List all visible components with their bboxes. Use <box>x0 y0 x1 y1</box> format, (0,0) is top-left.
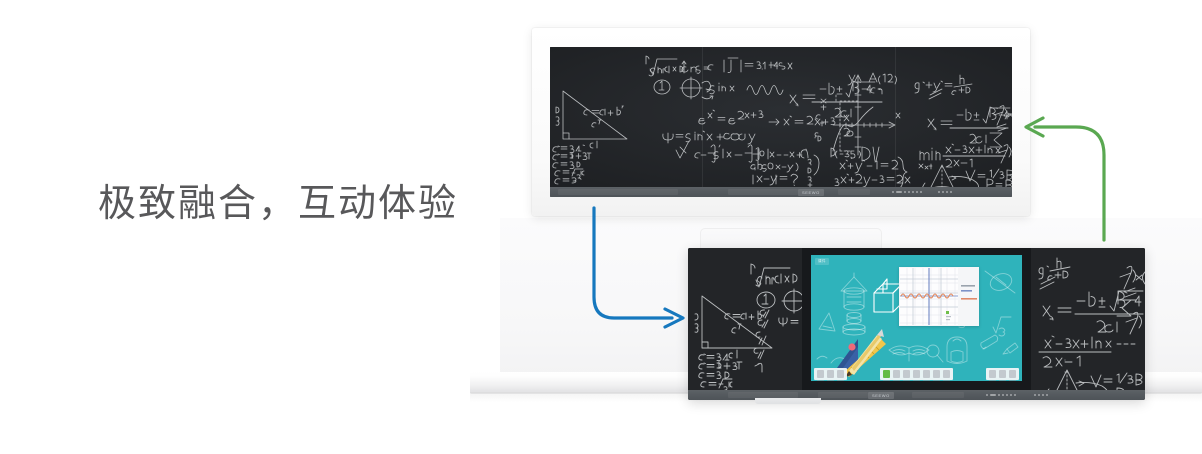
shapes-tool-icon[interactable] <box>913 370 920 378</box>
bezel-dot <box>1014 394 1016 396</box>
bezel-dot <box>892 191 894 193</box>
display-stand-base <box>755 398 821 404</box>
bezel-dot <box>908 191 910 193</box>
bezel-dot <box>950 191 952 193</box>
interactive-touchscreen[interactable]: 课件 <box>811 255 1022 381</box>
more-tool-icon[interactable] <box>943 370 950 378</box>
bezel-segment <box>912 392 964 398</box>
bezel-dot <box>1042 394 1044 396</box>
bezel-dot <box>986 394 988 396</box>
bezel-dot <box>1046 394 1048 396</box>
top-display-bezel-strip: SEEWO <box>550 187 1012 197</box>
bottom-right-chalkboard[interactable] <box>1031 248 1145 390</box>
board-divider-1 <box>702 47 703 187</box>
redo-icon[interactable] <box>1009 370 1016 378</box>
layers-icon[interactable] <box>827 370 834 378</box>
screen-toolbar[interactable] <box>811 367 1022 381</box>
bezel-dot <box>1010 394 1012 396</box>
bezel-dot <box>990 394 996 396</box>
graphing-calculator-window[interactable] <box>899 267 979 326</box>
bezel-dot <box>904 191 906 193</box>
text-tool-icon[interactable] <box>923 370 930 378</box>
page-indicator[interactable] <box>999 370 1006 378</box>
bezel-port-dots <box>1034 394 1048 396</box>
bezel-dot <box>946 191 948 193</box>
bezel-dot <box>998 394 1000 396</box>
bottom-left-handwriting <box>688 248 802 390</box>
top-chalkboard-handwriting <box>550 47 1012 187</box>
bezel-dot <box>942 191 944 193</box>
bezel-indicator-dots <box>986 394 1016 396</box>
bezel-dot <box>1006 394 1008 396</box>
graph-plot <box>899 267 979 326</box>
palette-icon[interactable] <box>837 370 844 378</box>
toolbar-right-group[interactable] <box>986 368 1019 380</box>
toolbar-center-group[interactable] <box>880 368 953 380</box>
bezel-dot <box>1038 394 1040 396</box>
bezel-dot <box>912 191 914 193</box>
bezel-segment <box>728 189 798 195</box>
select-tool-icon[interactable] <box>883 370 890 378</box>
grid-icon[interactable] <box>817 370 824 378</box>
top-whiteboard-display[interactable]: SEEWO <box>532 28 1030 216</box>
bezel-indicator-dots <box>892 191 922 193</box>
toolbar-left-group[interactable] <box>814 368 847 380</box>
pen-tool-icon[interactable] <box>893 370 900 378</box>
marketing-hero-stage: 极致融合，互动体验 <box>0 0 1202 454</box>
eraser-tool-icon[interactable] <box>903 370 910 378</box>
top-display-screen[interactable]: SEEWO <box>550 47 1012 197</box>
bezel-dot <box>1002 394 1004 396</box>
page-headline: 极致融合，互动体验 <box>98 178 458 228</box>
top-display-logo: SEEWO <box>798 189 824 196</box>
bezel-dot <box>938 191 940 193</box>
bottom-left-chalkboard[interactable] <box>688 248 802 390</box>
top-chalkboard-surface[interactable] <box>550 47 1012 187</box>
bottom-center-panel[interactable]: 课件 <box>802 248 1031 390</box>
bottom-display-logo: SEEWO <box>868 392 894 399</box>
board-divider-2 <box>895 47 896 187</box>
undo-icon[interactable] <box>989 370 996 378</box>
bezel-segment <box>558 189 678 195</box>
image-tool-icon[interactable] <box>933 370 940 378</box>
bezel-dot <box>896 191 902 193</box>
bezel-segment <box>838 189 870 195</box>
bottom-interactive-panel[interactable]: 课件 <box>688 248 1145 400</box>
bezel-port-dots <box>938 191 952 193</box>
bezel-dot <box>916 191 918 193</box>
bezel-dot <box>920 191 922 193</box>
bottom-right-handwriting <box>1031 248 1145 390</box>
bezel-dot <box>1034 394 1036 396</box>
bezel-segment <box>818 392 868 398</box>
